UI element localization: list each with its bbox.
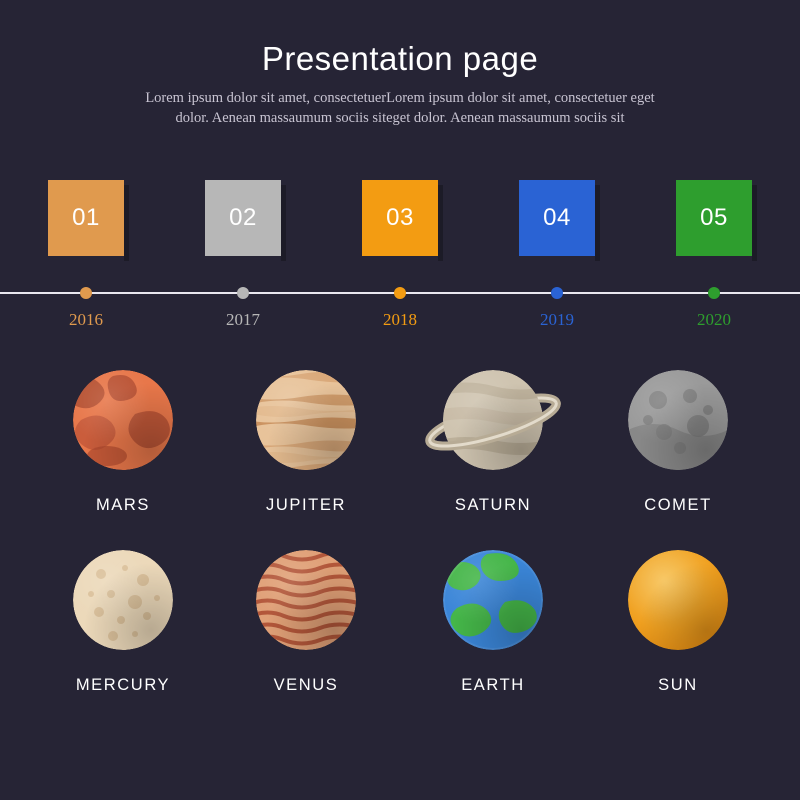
- planet-illustration: [30, 540, 216, 670]
- planet-card[interactable]: EARTH: [400, 540, 586, 695]
- timeline-dot: [80, 287, 92, 299]
- timeline-item[interactable]: 012016: [48, 180, 124, 256]
- planet-card[interactable]: COMET: [585, 360, 771, 515]
- header: Presentation page Lorem ipsum dolor sit …: [0, 40, 800, 128]
- sun-icon: [628, 550, 728, 650]
- page-title: Presentation page: [0, 40, 800, 78]
- page-subtitle: Lorem ipsum dolor sit amet, consectetuer…: [130, 88, 670, 128]
- planet-label: MARS: [30, 496, 216, 515]
- planet-card[interactable]: MARS: [30, 360, 216, 515]
- timeline-dot: [551, 287, 563, 299]
- planet-label: MERCURY: [30, 676, 216, 695]
- planet-label: SATURN: [400, 496, 586, 515]
- planet-card[interactable]: SUN: [585, 540, 771, 695]
- planet-label: VENUS: [213, 676, 399, 695]
- planet-illustration: [400, 360, 586, 490]
- timeline-year-label: 2016: [36, 310, 136, 330]
- planet-card[interactable]: SATURN: [400, 360, 586, 515]
- planet-label: EARTH: [400, 676, 586, 695]
- mars-icon: [73, 370, 173, 470]
- planet-illustration: [585, 360, 771, 490]
- timeline-item[interactable]: 022017: [205, 180, 281, 256]
- timeline-dot: [708, 287, 720, 299]
- timeline-year-label: 2019: [507, 310, 607, 330]
- planet-card[interactable]: MERCURY: [30, 540, 216, 695]
- timeline-year-label: 2018: [350, 310, 450, 330]
- timeline: 012016022017032018042019052020: [0, 180, 800, 340]
- planet-label: COMET: [585, 496, 771, 515]
- planet-label: SUN: [585, 676, 771, 695]
- timeline-step-box[interactable]: 03: [362, 180, 438, 256]
- timeline-step-box[interactable]: 02: [205, 180, 281, 256]
- timeline-step-box[interactable]: 05: [676, 180, 752, 256]
- timeline-step-box[interactable]: 01: [48, 180, 124, 256]
- planet-illustration: [213, 360, 399, 490]
- timeline-year-label: 2017: [193, 310, 293, 330]
- saturn-icon: [443, 370, 543, 470]
- earth-icon: [443, 550, 543, 650]
- timeline-year-label: 2020: [664, 310, 764, 330]
- jupiter-icon: [256, 370, 356, 470]
- timeline-dot: [394, 287, 406, 299]
- timeline-item[interactable]: 032018: [362, 180, 438, 256]
- infographic-canvas: Presentation page Lorem ipsum dolor sit …: [0, 0, 800, 800]
- timeline-item[interactable]: 042019: [519, 180, 595, 256]
- timeline-item[interactable]: 052020: [676, 180, 752, 256]
- timeline-dot: [237, 287, 249, 299]
- planet-label: JUPITER: [213, 496, 399, 515]
- planet-illustration: [585, 540, 771, 670]
- planet-illustration: [400, 540, 586, 670]
- comet-icon: [628, 370, 728, 470]
- planet-card[interactable]: JUPITER: [213, 360, 399, 515]
- planet-card[interactable]: VENUS: [213, 540, 399, 695]
- mercury-icon: [73, 550, 173, 650]
- planet-illustration: [30, 360, 216, 490]
- venus-icon: [256, 550, 356, 650]
- planet-grid: MARSJUPITERSATURNCOMETMERCURYVENUSEARTHS…: [0, 360, 800, 780]
- timeline-step-box[interactable]: 04: [519, 180, 595, 256]
- planet-illustration: [213, 540, 399, 670]
